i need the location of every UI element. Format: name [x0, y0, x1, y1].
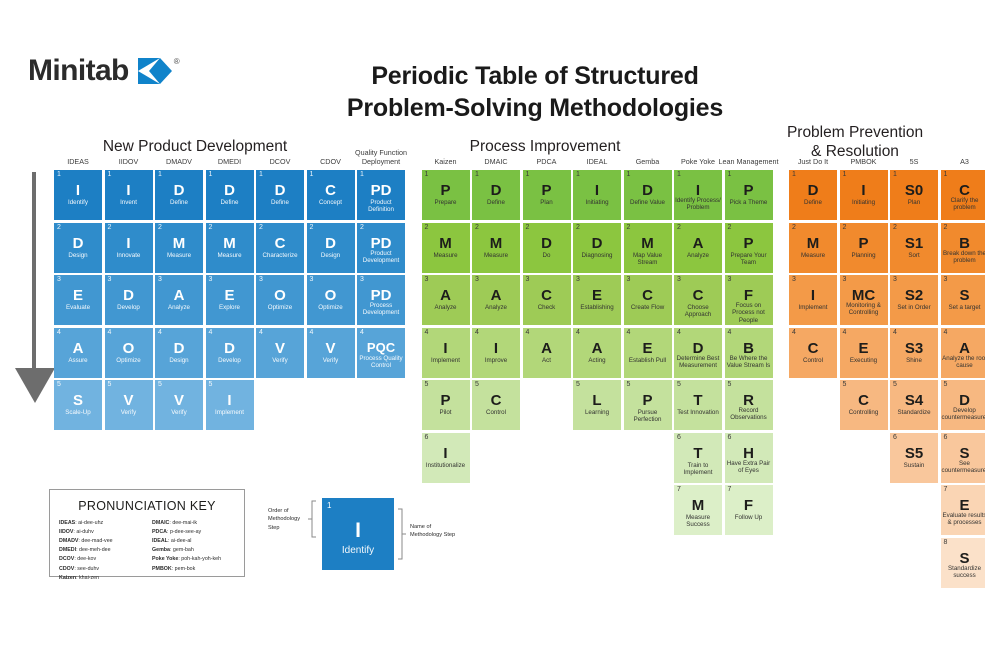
cell-symbol: M — [789, 236, 837, 251]
methodology-column-poke-yoke: Poke Yoke1IIdentify Process/ Problem2AAn… — [674, 170, 722, 538]
table-cell[interactable]: 2MMap Value Stream — [624, 223, 672, 273]
cell-step-name: Diagnosing — [574, 252, 620, 259]
table-cell[interactable]: 4DDesign — [155, 328, 203, 378]
cell-symbol: S5 — [890, 446, 938, 461]
methodology-column-pdca: PDCA1PPlan2DDo3CCheck4AAct — [523, 170, 571, 380]
cell-symbol: A — [472, 288, 520, 303]
table-cell[interactable]: 2PPlanning — [840, 223, 888, 273]
cell-step-name: Product Definition — [358, 199, 404, 214]
cell-step-name: Initiating — [574, 199, 620, 206]
cell-symbol: T — [674, 393, 722, 408]
cell-symbol: I — [573, 183, 621, 198]
cell-symbol: PD — [357, 236, 405, 251]
cell-symbol: H — [725, 446, 773, 461]
cell-step-name: Optimize — [257, 304, 303, 311]
table-cell[interactable]: 5VVerify — [105, 380, 153, 430]
methodology-column-cdov: CDOV1CConcept2DDesign3OOptimize4VVerify — [307, 170, 355, 380]
table-cell[interactable]: 1PPlan — [523, 170, 571, 220]
column-header: CDOV — [320, 157, 341, 170]
pronunciation-term: Gemba — [152, 547, 170, 553]
table-cell[interactable]: 8SStandardize success — [941, 538, 985, 588]
cell-symbol: F — [725, 288, 773, 303]
cell-step-name: Pick a Theme — [726, 199, 772, 206]
cell-step-number: 2 — [944, 224, 948, 231]
cell-step-name: Institutionalize — [423, 462, 469, 469]
cell-symbol: B — [725, 341, 773, 356]
cell-step-number: 2 — [792, 224, 796, 231]
cell-step-number: 2 — [677, 224, 681, 231]
cell-step-name: Control — [473, 409, 519, 416]
table-cell[interactable]: 1CClarify the problem — [941, 170, 985, 220]
cell-step-number: 3 — [475, 276, 479, 283]
cell-step-name: Set a target — [942, 304, 985, 311]
table-cell[interactable]: 4AActing — [573, 328, 621, 378]
methodology-column-kaizen: Kaizen1PPrepare2MMeasure3AAnalyze4IImple… — [422, 170, 470, 485]
infographic-canvas: Minitab ® Periodic Table of Structured P… — [0, 0, 985, 656]
table-cell[interactable]: 1DDefine — [789, 170, 837, 220]
pronunciation-entry: IDEAS: ai-dee-uhz — [59, 519, 142, 528]
cell-symbol: R — [725, 393, 773, 408]
pronunciation-key-left-column: IDEAS: ai-dee-uhzIIDOV: ai-duhvDMADV: de… — [59, 519, 142, 583]
cell-step-number: 2 — [360, 224, 364, 231]
cell-symbol: I — [54, 183, 102, 198]
cell-step-name: Standardize success — [942, 565, 985, 580]
cell-step-number: 5 — [475, 381, 479, 388]
table-cell[interactable]: 2AAnalyze — [674, 223, 722, 273]
cell-step-number: 5 — [627, 381, 631, 388]
cell-step-number: 3 — [57, 276, 61, 283]
cell-step-number: 2 — [259, 224, 263, 231]
column-header: Kaizen — [435, 157, 457, 170]
pronunciation-term: DMEDI — [59, 547, 76, 553]
table-cell[interactable]: 5PPursue Perfection — [624, 380, 672, 430]
table-cell[interactable]: 2MMeasure — [206, 223, 254, 273]
cell-step-number: 6 — [677, 434, 681, 441]
cell-step-name: Implement — [207, 409, 253, 416]
table-cell[interactable]: 4AAct — [523, 328, 571, 378]
cell-symbol: PQC — [357, 341, 405, 354]
table-cell[interactable]: 4AAssure — [54, 328, 102, 378]
cell-step-number: 4 — [677, 329, 681, 336]
cell-symbol: V — [307, 341, 355, 356]
cell-step-number: 6 — [944, 434, 948, 441]
table-cell[interactable]: 7MMeasure Success — [674, 485, 722, 535]
table-cell[interactable]: 4S3Shine — [890, 328, 938, 378]
cell-step-name: Analyze — [473, 304, 519, 311]
cell-step-name: Break down the problem — [942, 250, 985, 265]
cell-symbol: A — [422, 288, 470, 303]
methodology-column-dcov: DCOV1DDefine2CCharacterize3OOptimize4VVe… — [256, 170, 304, 380]
table-cell[interactable]: 2BBreak down the problem — [941, 223, 985, 273]
table-cell[interactable]: 3CCheck — [523, 275, 571, 325]
cell-symbol: C — [472, 393, 520, 408]
cell-symbol: C — [307, 183, 355, 198]
table-cell[interactable]: 3OOptimize — [307, 275, 355, 325]
methodology-column-a3: A31CClarify the problem2BBreak down the … — [941, 170, 985, 590]
table-cell[interactable]: 2MMeasure — [789, 223, 837, 273]
table-cell[interactable]: 3IImplement — [789, 275, 837, 325]
table-cell[interactable]: 5TTest Innovation — [674, 380, 722, 430]
pronunciation-entry: Poke Yoke: poh-kah-yoh-keh — [152, 555, 235, 564]
column-header: PDCA — [537, 157, 557, 170]
table-cell[interactable]: 4AAnalyze the root cause — [941, 328, 985, 378]
table-cell[interactable]: 1DDefine — [256, 170, 304, 220]
pronunciation-entry: DCOV: dee-kov — [59, 555, 142, 564]
table-cell[interactable]: 1CConcept — [307, 170, 355, 220]
cell-symbol: O — [256, 288, 304, 303]
table-cell[interactable]: 1PPrepare — [422, 170, 470, 220]
cell-step-number: 3 — [576, 276, 580, 283]
table-cell[interactable]: 2DDiagnosing — [573, 223, 621, 273]
cell-step-number: 2 — [475, 224, 479, 231]
cell-step-number: 2 — [57, 224, 61, 231]
cell-step-name: Measure Success — [675, 514, 721, 529]
table-cell[interactable]: 2DDo — [523, 223, 571, 273]
cell-symbol: D — [105, 288, 153, 303]
table-cell[interactable]: 5S4Standardize — [890, 380, 938, 430]
group-heading-process-improvement: Process Improvement — [400, 138, 690, 157]
column-header: Poke Yoke — [681, 157, 715, 170]
brand-name: Minitab — [28, 56, 129, 86]
cell-step-name: Concept — [308, 199, 354, 206]
cell-step-name: Identify Process/ Problem — [675, 197, 721, 212]
cell-symbol: D — [674, 341, 722, 356]
cell-step-name: See countermeasures — [942, 460, 985, 475]
table-cell[interactable]: 1IInitiating — [573, 170, 621, 220]
table-cell[interactable]: 3CChoose Approach — [674, 275, 722, 325]
pronunciation-say: dee-mad-vee — [81, 538, 112, 544]
cell-step-name: Measure — [423, 252, 469, 259]
cell-step-number: 5 — [158, 381, 162, 388]
cell-step-name: Executing — [841, 357, 887, 364]
table-cell[interactable]: 6SSee countermeasures — [941, 433, 985, 483]
cell-step-number: 1 — [259, 171, 263, 178]
table-cell[interactable]: 4CControl — [789, 328, 837, 378]
table-cell[interactable]: 2DDesign — [307, 223, 355, 273]
cell-step-name: Shine — [891, 357, 937, 364]
cell-symbol: I — [105, 183, 153, 198]
cell-step-name: Act — [524, 357, 570, 364]
table-cell[interactable]: 1IInvent — [105, 170, 153, 220]
pronunciation-say: see-duhv — [77, 566, 99, 572]
cell-step-name: Scale-Up — [55, 409, 101, 416]
cell-step-name: Measure — [156, 252, 202, 259]
cell-step-number: 4 — [893, 329, 897, 336]
cell-symbol: V — [256, 341, 304, 356]
column-header: DCOV — [270, 157, 291, 170]
cell-step-name: Develop countermeasures — [942, 407, 985, 422]
cell-step-name: Measure — [473, 252, 519, 259]
cell-step-number: 5 — [425, 381, 429, 388]
cell-symbol: D — [523, 236, 571, 251]
cell-step-name: Focus on Process not People — [726, 302, 772, 324]
table-cell[interactable]: 1IIdentify — [54, 170, 102, 220]
table-cell[interactable]: 3S2Set in Order — [890, 275, 938, 325]
table-cell[interactable]: 4IImplement — [422, 328, 470, 378]
cell-step-name: Record Observations — [726, 407, 772, 422]
cell-step-number: 5 — [108, 381, 112, 388]
page-title: Periodic Table of Structured Problem-Sol… — [255, 60, 815, 124]
cell-step-name: Define Value — [625, 199, 671, 206]
cell-symbol: S — [941, 446, 985, 461]
cell-symbol: C — [941, 183, 985, 198]
cell-step-number: 1 — [728, 171, 732, 178]
cell-step-number: 2 — [843, 224, 847, 231]
table-cell[interactable]: 3AAnalyze — [155, 275, 203, 325]
table-cell[interactable]: 4EEstablish Pull — [624, 328, 672, 378]
cell-symbol: D — [472, 183, 520, 198]
cell-step-number: 1 — [627, 171, 631, 178]
cell-symbol: E — [54, 288, 102, 303]
cell-symbol: C — [789, 341, 837, 356]
cell-step-name: Characterize — [257, 252, 303, 259]
table-cell[interactable]: 4DDevelop — [206, 328, 254, 378]
cell-step-name: Monitoring & Controlling — [841, 302, 887, 317]
cell-symbol: I — [105, 236, 153, 251]
table-cell[interactable]: 2S1Sort — [890, 223, 938, 273]
cell-symbol: L — [573, 393, 621, 408]
cell-symbol: P — [422, 393, 470, 408]
table-cell[interactable]: 2MMeasure — [422, 223, 470, 273]
table-cell[interactable]: 4BBe Where the Value Stream Is — [725, 328, 773, 378]
cell-symbol: S3 — [890, 341, 938, 356]
pronunciation-say: gem-bah — [173, 547, 194, 553]
cell-step-name: Planning — [841, 252, 887, 259]
cell-step-number: 2 — [728, 224, 732, 231]
pronunciation-term: CDOV — [59, 566, 74, 572]
table-cell[interactable]: 3EExplore — [206, 275, 254, 325]
table-cell[interactable]: 2PPrepare Your Team — [725, 223, 773, 273]
cell-step-name: Standardize — [891, 409, 937, 416]
table-cell[interactable]: 3CCreate Flow — [624, 275, 672, 325]
pronunciation-term: PMBOK — [152, 566, 172, 572]
cell-step-name: Measure — [207, 252, 253, 259]
cell-step-number: 1 — [576, 171, 580, 178]
pronunciation-term: Poke Yoke — [152, 556, 178, 562]
table-cell[interactable]: 3DDevelop — [105, 275, 153, 325]
table-cell[interactable]: 6IInstitutionalize — [422, 433, 470, 483]
table-cell[interactable]: 1DDefine — [472, 170, 520, 220]
cell-step-number: 1 — [108, 171, 112, 178]
methodology-column-lean-management: Lean Management1PPick a Theme2PPrepare Y… — [725, 170, 773, 538]
table-cell[interactable]: 1DDefine — [155, 170, 203, 220]
table-cell[interactable]: 3OOptimize — [256, 275, 304, 325]
table-cell[interactable]: 6TTrain to Implement — [674, 433, 722, 483]
cell-symbol: D — [206, 183, 254, 198]
cell-symbol: D — [941, 393, 985, 408]
title-line-1: Periodic Table of Structured — [255, 60, 815, 92]
cell-step-number: 3 — [209, 276, 213, 283]
table-cell[interactable]: 4OOptimize — [105, 328, 153, 378]
cell-step-name: Optimize — [308, 304, 354, 311]
cell-step-name: Have Extra Pair of Eyes — [726, 460, 772, 475]
cell-step-name: Do — [524, 252, 570, 259]
pronunciation-say: p-dee-see-ay — [170, 529, 201, 535]
cell-step-name: Evaluate — [55, 304, 101, 311]
table-cell[interactable]: 5SScale-Up — [54, 380, 102, 430]
cell-step-number: 4 — [627, 329, 631, 336]
cell-step-number: 8 — [944, 539, 948, 546]
cell-step-number: 1 — [425, 171, 429, 178]
cell-step-number: 2 — [310, 224, 314, 231]
cell-step-name: Define — [156, 199, 202, 206]
table-cell[interactable]: 2MMeasure — [155, 223, 203, 273]
cell-step-name: Pilot — [423, 409, 469, 416]
cell-step-name: Define — [257, 199, 303, 206]
cell-step-name: Develop — [207, 357, 253, 364]
pronunciation-say: poh-kah-yoh-keh — [181, 556, 221, 562]
table-cell[interactable]: 5CControl — [472, 380, 520, 430]
column-header: DMADV — [166, 157, 192, 170]
table-cell[interactable]: 1S0Plan — [890, 170, 938, 220]
pronunciation-entry: DMAIC: dee-mai-ik — [152, 519, 235, 528]
pronunciation-say: ai-dee-uhz — [78, 520, 103, 526]
table-cell[interactable]: 5PPilot — [422, 380, 470, 430]
table-cell[interactable]: 2CCharacterize — [256, 223, 304, 273]
cell-step-name: Analyze — [156, 304, 202, 311]
cell-step-number: 1 — [526, 171, 530, 178]
cell-step-number: 3 — [627, 276, 631, 283]
cell-step-name: Determine Best Measurement — [675, 355, 721, 370]
pronunciation-say: khai-zen — [79, 575, 99, 581]
cell-step-number: 4 — [108, 329, 112, 336]
pronunciation-term: DMAIC — [152, 520, 169, 526]
cell-symbol: C — [840, 393, 888, 408]
pronunciation-entry: Gemba: gem-bah — [152, 546, 235, 555]
table-cell[interactable]: 1IIdentify Process/ Problem — [674, 170, 722, 220]
cell-step-number: 4 — [158, 329, 162, 336]
cell-step-number: 4 — [310, 329, 314, 336]
cell-step-name: Follow Up — [726, 514, 772, 521]
table-cell[interactable]: 1DDefine Value — [624, 170, 672, 220]
table-cell[interactable]: 2IInnovate — [105, 223, 153, 273]
column-header: Gemba — [636, 157, 660, 170]
cell-step-number: 7 — [728, 486, 732, 493]
cell-symbol: I — [674, 183, 722, 198]
table-cell[interactable]: 6S5Sustain — [890, 433, 938, 483]
table-cell[interactable]: 1DDefine — [206, 170, 254, 220]
cell-symbol: D — [206, 341, 254, 356]
column-header: PMBOK — [851, 157, 877, 170]
table-cell[interactable]: 7EEvaluate results & processes — [941, 485, 985, 535]
cell-symbol: M — [624, 236, 672, 251]
cell-step-number: 4 — [576, 329, 580, 336]
table-cell[interactable]: 3MCMonitoring & Controlling — [840, 275, 888, 325]
cell-symbol: O — [105, 341, 153, 356]
methodology-column-dmedi: DMEDI1DDefine2MMeasure3EExplore4DDevelop… — [206, 170, 254, 433]
table-cell[interactable]: 5CControlling — [840, 380, 888, 430]
cell-step-number: 4 — [209, 329, 213, 336]
cell-step-number: 3 — [310, 276, 314, 283]
table-cell[interactable]: 5IImplement — [206, 380, 254, 430]
cell-symbol: A — [155, 288, 203, 303]
table-cell[interactable]: 1PPick a Theme — [725, 170, 773, 220]
cell-symbol: C — [674, 288, 722, 303]
methodology-column-iidov: IIDOV1IInvent2IInnovate3DDevelop4OOptimi… — [105, 170, 153, 433]
cell-symbol: V — [105, 393, 153, 408]
table-cell[interactable]: 5DDevelop countermeasures — [941, 380, 985, 430]
methodology-column-gemba: Gemba1DDefine Value2MMap Value Stream3CC… — [624, 170, 672, 433]
table-cell[interactable]: 4PQCProcess Quality Control — [357, 328, 405, 378]
cell-step-name: Implement — [790, 304, 836, 311]
cell-symbol: PD — [357, 183, 405, 198]
table-cell[interactable]: 3EEvaluate — [54, 275, 102, 325]
table-cell[interactable]: 3FFocus on Process not People — [725, 275, 773, 325]
table-cell[interactable]: 7FFollow Up — [725, 485, 773, 535]
cell-symbol: P — [725, 236, 773, 251]
cell-step-name: Implement — [423, 357, 469, 364]
pronunciation-key: PRONUNCIATION KEY IDEAS: ai-dee-uhzIIDOV… — [49, 489, 245, 577]
cell-step-number: 7 — [944, 486, 948, 493]
pronunciation-term: PDCA — [152, 529, 167, 535]
cell-step-name: Establish Pull — [625, 357, 671, 364]
table-cell[interactable]: 4VVerify — [256, 328, 304, 378]
table-cell[interactable]: 4EExecuting — [840, 328, 888, 378]
table-cell[interactable]: 5LLearning — [573, 380, 621, 430]
table-cell[interactable]: 3SSet a target — [941, 275, 985, 325]
table-cell[interactable]: 5RRecord Observations — [725, 380, 773, 430]
table-cell[interactable]: 3EEstablishing — [573, 275, 621, 325]
methodology-column-dmaic: DMAIC1DDefine2MMeasure3AAnalyze4IImprove… — [472, 170, 520, 433]
cell-step-number: 1 — [677, 171, 681, 178]
cell-symbol: I — [840, 183, 888, 198]
cell-symbol: S0 — [890, 183, 938, 198]
table-cell[interactable]: 2MMeasure — [472, 223, 520, 273]
cell-symbol: S2 — [890, 288, 938, 303]
table-cell[interactable]: 3AAnalyze — [422, 275, 470, 325]
column-header: Just Do It — [798, 157, 828, 170]
cell-step-number: 6 — [893, 434, 897, 441]
table-cell[interactable]: 3AAnalyze — [472, 275, 520, 325]
cell-step-name: Define — [790, 199, 836, 206]
table-cell[interactable]: 1IInitiating — [840, 170, 888, 220]
cell-step-number: 5 — [209, 381, 213, 388]
cell-symbol: A — [523, 341, 571, 356]
table-cell[interactable]: 4VVerify — [307, 328, 355, 378]
cell-step-number: 3 — [526, 276, 530, 283]
cell-step-number: 2 — [576, 224, 580, 231]
methodology-column-just-do-it: Just Do It1DDefine2MMeasure3IImplement4C… — [789, 170, 837, 380]
methodology-column-5s: 5S1S0Plan2S1Sort3S2Set in Order4S3Shine5… — [890, 170, 938, 485]
cell-symbol: P — [624, 393, 672, 408]
table-cell[interactable]: 6HHave Extra Pair of Eyes — [725, 433, 773, 483]
title-line-2: Problem-Solving Methodologies — [255, 92, 815, 124]
table-cell[interactable]: 5VVerify — [155, 380, 203, 430]
cell-step-name: Clarify the problem — [942, 197, 985, 212]
cell-step-number: 2 — [158, 224, 162, 231]
cell-symbol: A — [573, 341, 621, 356]
table-cell[interactable]: 4DDetermine Best Measurement — [674, 328, 722, 378]
cell-symbol: I — [206, 393, 254, 408]
table-cell[interactable]: 3PDProcess Development — [357, 275, 405, 325]
cell-step-number: 1 — [57, 171, 61, 178]
cell-step-name: Set in Order — [891, 304, 937, 311]
table-cell[interactable]: 1PDProduct Definition — [357, 170, 405, 220]
cell-step-number: 2 — [893, 224, 897, 231]
table-cell[interactable]: 2PDProduct Development — [357, 223, 405, 273]
table-cell[interactable]: 4IImprove — [472, 328, 520, 378]
cell-step-name: Evaluate results & processes — [942, 512, 985, 527]
cell-step-name: Process Quality Control — [358, 355, 404, 370]
cell-symbol: I — [789, 288, 837, 303]
cell-step-number: 2 — [209, 224, 213, 231]
cell-symbol: PD — [357, 288, 405, 303]
cell-step-number: 3 — [158, 276, 162, 283]
table-cell[interactable]: 2DDesign — [54, 223, 102, 273]
cell-step-name: Plan — [524, 199, 570, 206]
cell-symbol: I — [422, 341, 470, 356]
column-header: DMAIC — [484, 157, 507, 170]
